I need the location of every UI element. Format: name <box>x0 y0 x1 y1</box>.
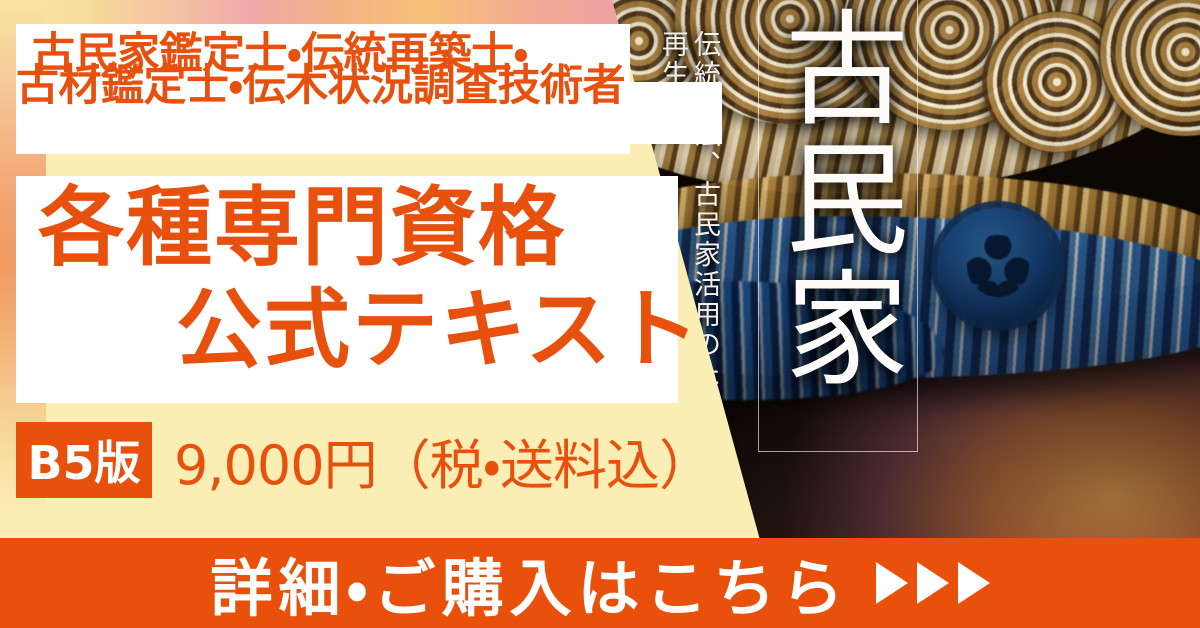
promo-banner: 伝統構法、古民家活用のための調査と再生の 古民家 古民家鑑定士・伝統再築士・ 古… <box>0 0 1200 628</box>
headline-line-1: 各種専門資格 <box>38 182 566 275</box>
triangle-right-icon <box>958 562 990 604</box>
cta-bar[interactable]: 詳細・ご購入はこちら <box>0 538 1200 628</box>
book-cover-title: 古民家 <box>768 4 906 474</box>
cta-arrow-group <box>876 562 990 604</box>
cta-label: 詳細・ご購入はこちら <box>210 538 849 628</box>
headline-line-2: 公式テキスト <box>176 284 701 377</box>
format-badge-b5: B5版 <box>16 422 152 498</box>
triangle-right-icon <box>917 562 949 604</box>
qualifications-line-2: 古材鑑定士・伝木状況調査技術者 <box>16 58 736 115</box>
triangle-right-icon <box>876 562 908 604</box>
price-amount: 9,000円（税・送料込） <box>174 421 712 500</box>
headline-card: 各種専門資格 公式テキスト <box>16 176 678 403</box>
price-row: B5版 9,000円（税・送料込） <box>16 422 712 498</box>
